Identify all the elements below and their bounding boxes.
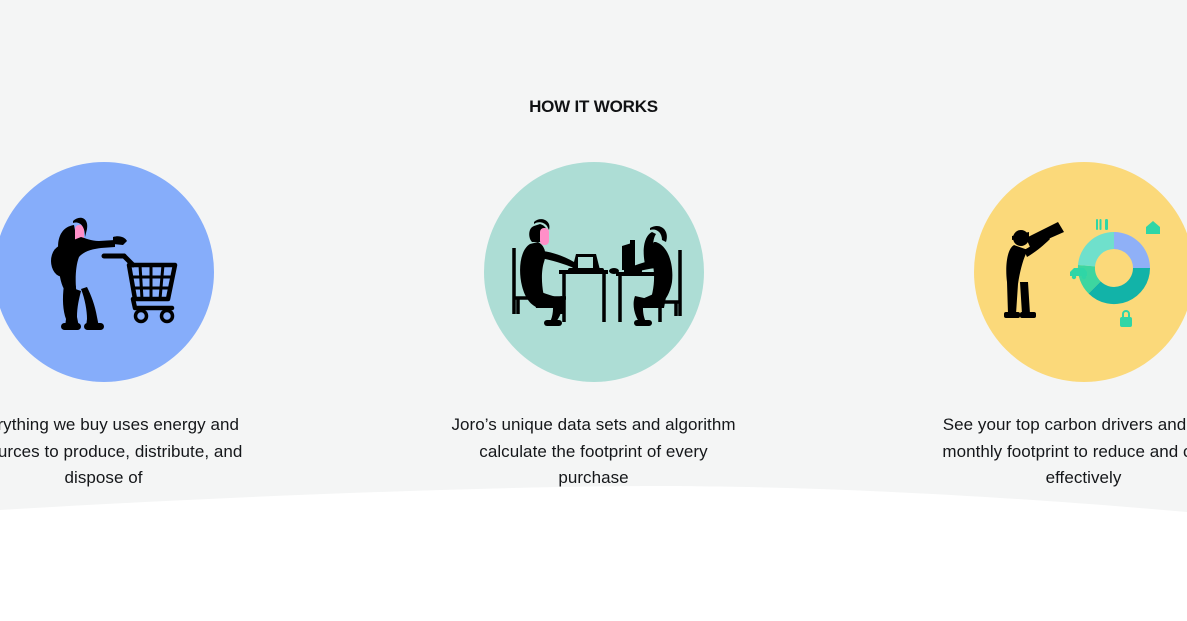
card-shopping: Everything we buy uses energy and resour… [0, 162, 254, 492]
lock-icon [1120, 310, 1132, 327]
car-icon [1070, 268, 1087, 279]
donut-chart [1078, 231, 1150, 303]
person-shopping-cart-icon [29, 207, 179, 337]
house-icon [1146, 221, 1160, 234]
section-content: HOW IT WORKS [0, 0, 1187, 530]
donut-segment-shopping [1089, 268, 1151, 304]
donut-segment-food [1078, 231, 1114, 265]
card-insights: See your top carbon drivers and your mon… [934, 162, 1187, 492]
fork-knife-icon [1096, 219, 1108, 230]
card-caption-insights: See your top carbon drivers and your mon… [934, 412, 1187, 492]
card-icon-circle-analysis [484, 162, 704, 382]
card-caption-analysis: Joro’s unique data sets and algorithm ca… [444, 412, 744, 492]
page-root: HOW IT WORKS [0, 0, 1187, 621]
card-analysis: Joro’s unique data sets and algorithm ca… [444, 162, 744, 492]
how-it-works-card-list: Everything we buy uses energy and resour… [0, 162, 1187, 492]
person-telescope-donut-chart-icon [996, 210, 1171, 335]
donut-segment-home [1114, 232, 1150, 268]
card-caption-shopping: Everything we buy uses energy and resour… [0, 412, 254, 492]
section-eyebrow-title: HOW IT WORKS [0, 97, 1187, 117]
people-at-desks-computers-icon [504, 212, 684, 332]
card-icon-circle-insights [974, 162, 1187, 382]
card-icon-circle-shopping [0, 162, 214, 382]
